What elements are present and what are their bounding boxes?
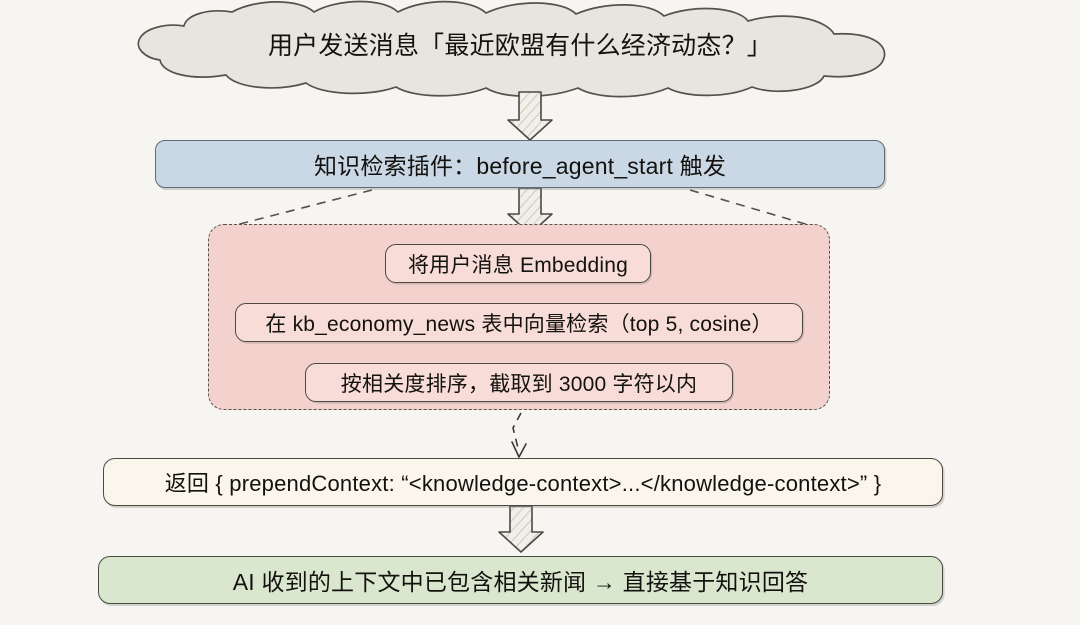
step-truncate-node[interactable]: 按相关度排序，截取到 3000 字符以内 xyxy=(305,363,733,402)
user-message-cloud: 用户发送消息「最近欧盟有什么经济动态？」 xyxy=(150,4,890,90)
user-message-label: 用户发送消息「最近欧盟有什么经济动态？」 xyxy=(268,31,772,63)
return-context-node[interactable]: 返回 { prependContext: “<knowledge-context… xyxy=(103,458,943,506)
final-answer-node[interactable]: AI 收到的上下文中已包含相关新闻 → 直接基于知识回答 xyxy=(98,556,943,604)
return-context-label: 返回 { prependContext: “<knowledge-context… xyxy=(165,466,882,498)
step-vector-search-node[interactable]: 在 kb_economy_news 表中向量检索（top 5, cosine） xyxy=(235,303,803,342)
arrow-cloud-to-plugin xyxy=(508,92,552,140)
plugin-trigger-label: 知识检索插件：before_agent_start 触发 xyxy=(314,147,726,181)
dashed-expansion-connector xyxy=(232,190,812,226)
plugin-trigger-node[interactable]: 知识检索插件：before_agent_start 触发 xyxy=(155,140,885,188)
arrow-group-to-return xyxy=(512,413,526,457)
final-answer-label: AI 收到的上下文中已包含相关新闻 → 直接基于知识回答 xyxy=(233,563,809,597)
diagram-canvas: 用户发送消息「最近欧盟有什么经济动态？」 知识检索插件：before_agent… xyxy=(0,0,1080,625)
arrow-return-to-answer xyxy=(499,506,543,552)
step-embedding-node[interactable]: 将用户消息 Embedding xyxy=(385,244,651,283)
step-vector-search-label: 在 kb_economy_news 表中向量检索（top 5, cosine） xyxy=(265,308,772,338)
step-truncate-label: 按相关度排序，截取到 3000 字符以内 xyxy=(341,368,697,398)
step-embedding-label: 将用户消息 Embedding xyxy=(408,249,628,279)
